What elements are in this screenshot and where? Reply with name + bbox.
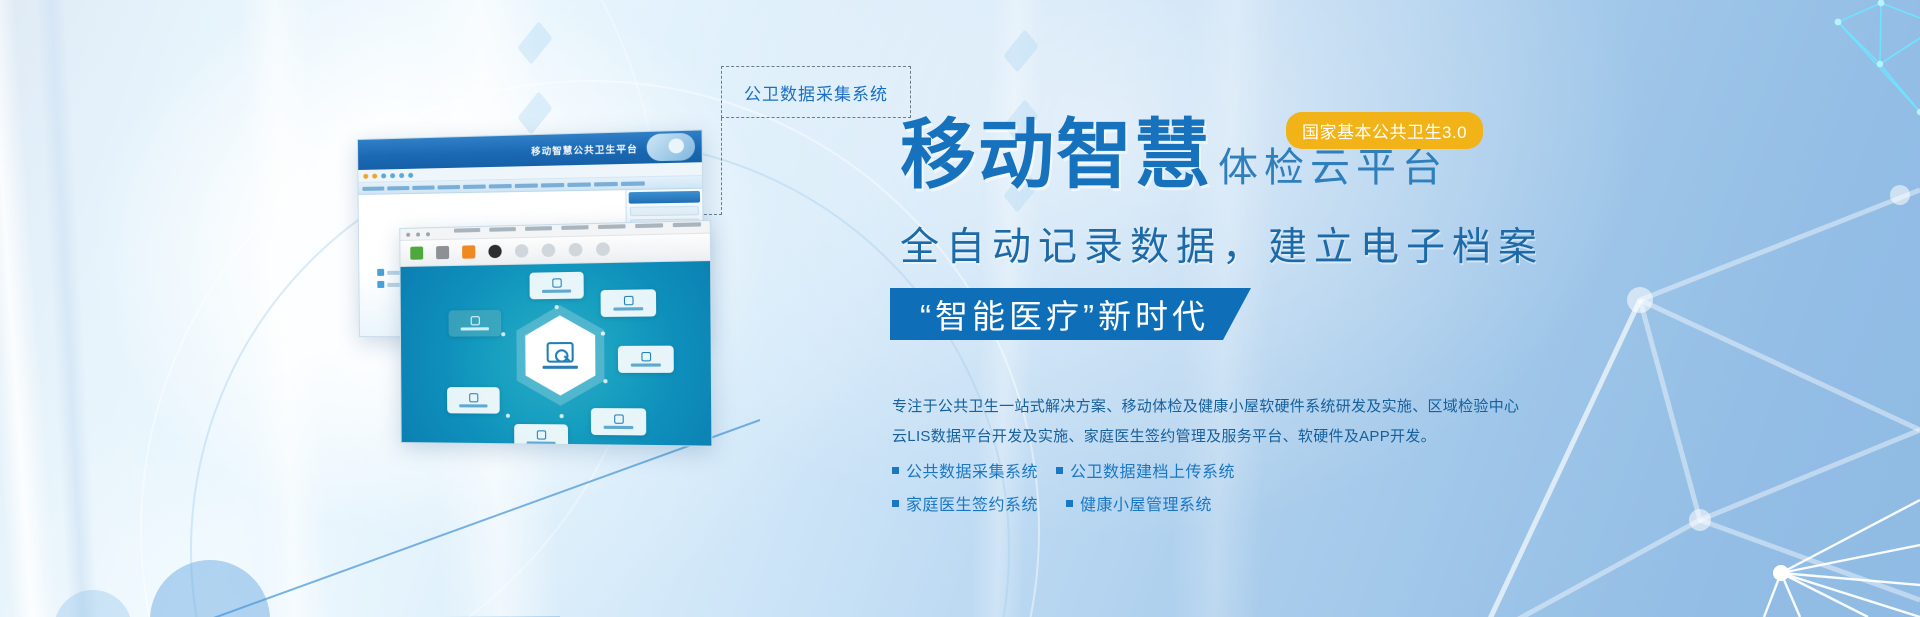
feature-label: 健康小屋管理系统 bbox=[1080, 491, 1212, 515]
spoke-node bbox=[447, 387, 500, 414]
copy-block: 移动智慧 体检云平台 国家基本公共卫生3.0 全自动记录数据，建立电子档案 “智… bbox=[900, 0, 1920, 617]
callout-label: 公卫数据采集系统 bbox=[744, 80, 888, 105]
light-band bbox=[0, 0, 60, 617]
light-band bbox=[238, 0, 332, 617]
feature-label: 公卫数据建档上传系统 bbox=[1070, 458, 1235, 482]
feature-item: 公卫数据建档上传系统 bbox=[1056, 458, 1266, 482]
spoke-node bbox=[591, 408, 646, 435]
spoke-node bbox=[618, 346, 674, 373]
diamond-accent bbox=[517, 21, 552, 65]
description-paragraph: 专注于公共卫生一站式解决方案、移动体检及健康小屋软硬件系统研发及实施、区域检验中… bbox=[892, 392, 1472, 452]
headline-row: 移动智慧 体检云平台 国家基本公共卫生3.0 bbox=[900, 118, 1448, 194]
hero-banner: 公卫数据采集系统 移动智慧公共卫生平台 bbox=[0, 0, 1920, 617]
version-badge: 国家基本公共卫生3.0 bbox=[1286, 112, 1483, 149]
feature-item: 公共数据采集系统 bbox=[892, 458, 1044, 482]
hub-hexagon bbox=[509, 304, 612, 406]
bullet-square-icon bbox=[892, 500, 899, 507]
description-line-1: 专注于公共卫生一站式解决方案、移动体检及健康小屋软硬件系统研发及实施、区域检验中… bbox=[892, 392, 1472, 422]
callout-box: 公卫数据采集系统 bbox=[721, 66, 911, 118]
ribbon-banner: “智能医疗”新时代 bbox=[890, 288, 1251, 340]
screenshot-front-canvas bbox=[401, 261, 712, 447]
feature-item: 健康小屋管理系统 bbox=[1056, 491, 1266, 515]
feature-label: 家庭医生签约系统 bbox=[906, 491, 1038, 515]
spoke-node bbox=[448, 310, 501, 337]
feature-list: 公共数据采集系统 公卫数据建档上传系统 家庭医生签约系统 健康小屋管理系统 bbox=[892, 458, 1266, 515]
spoke-node bbox=[514, 424, 568, 447]
headline-sub: 体检云平台 bbox=[1218, 146, 1448, 190]
light-band bbox=[34, 0, 100, 617]
screenshot-front bbox=[399, 220, 712, 447]
bullet-square-icon bbox=[1066, 500, 1073, 507]
corner-circle bbox=[54, 590, 132, 617]
headline-main: 移动智慧 bbox=[900, 118, 1212, 194]
screenshot-back-title: 移动智慧公共卫生平台 bbox=[531, 141, 638, 157]
feature-label: 公共数据采集系统 bbox=[906, 458, 1038, 482]
corner-circle bbox=[150, 560, 270, 617]
callout-leader-vertical bbox=[721, 118, 722, 215]
bullet-square-icon bbox=[1056, 467, 1063, 474]
spoke-node bbox=[530, 272, 584, 300]
ribbon-text: “智能医疗”新时代 bbox=[920, 290, 1209, 338]
search-document-icon bbox=[547, 342, 574, 363]
headline-line2: 全自动记录数据，建立电子档案 bbox=[900, 226, 1544, 270]
spoke-node bbox=[601, 289, 657, 317]
bullet-square-icon bbox=[892, 467, 899, 474]
feature-item: 家庭医生签约系统 bbox=[892, 491, 1044, 515]
doctor-avatar-icon bbox=[646, 133, 695, 162]
description-line-2: 云LIS数据平台开发及实施、家庭医生签约管理及服务平台、软硬件及APP开发。 bbox=[892, 422, 1472, 452]
diamond-accent bbox=[517, 91, 552, 135]
